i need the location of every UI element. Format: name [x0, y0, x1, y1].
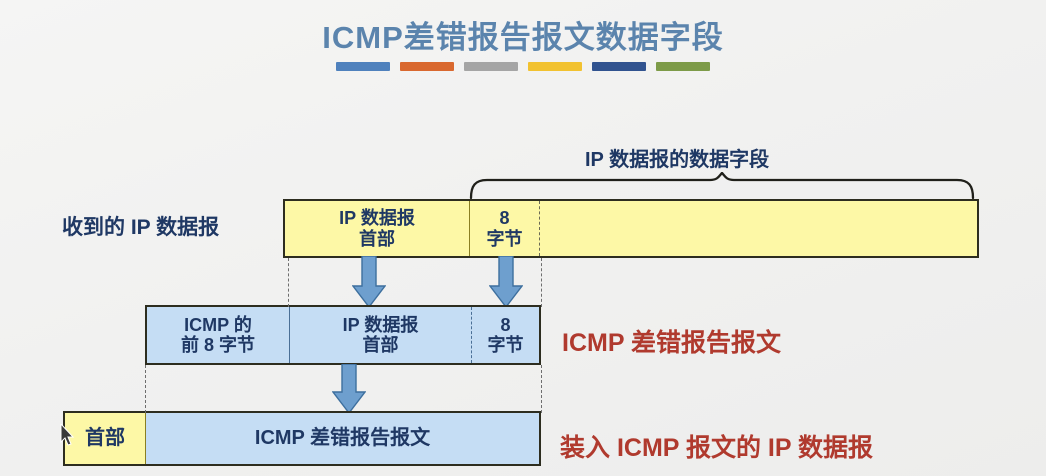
label-ip-data-field: IP 数据报的数据字段: [585, 143, 769, 172]
down-arrow-8-bytes: [489, 256, 523, 308]
cell-icmp-message-row3: ICMP 差错报告报文: [146, 413, 539, 464]
down-arrow-ip-header: [352, 256, 386, 308]
accent-bar-5: [592, 62, 646, 71]
curly-brace-ip-data-field: [465, 172, 985, 200]
cell-payload-row1: [540, 201, 977, 256]
label-encapsulated-ip-datagram: 装入 ICMP 报文的 IP 数据报: [560, 428, 873, 464]
page-title: ICMP差错报告报文数据字段: [0, 12, 1046, 57]
label-icmp-error-message: ICMP 差错报告报文: [562, 323, 781, 359]
down-arrow-icmp-message: [332, 364, 366, 414]
accent-bar-1: [336, 62, 390, 71]
accent-bar-2: [400, 62, 454, 71]
title-accent-bars: [336, 62, 710, 74]
cell-8-bytes-row2: 8 字节: [472, 307, 539, 363]
accent-bar-3: [464, 62, 518, 71]
row-icmp-error-message: ICMP 的 前 8 字节 IP 数据报 首部 8 字节: [145, 305, 541, 365]
guide-line-row2-right: [541, 365, 542, 413]
accent-bar-4: [528, 62, 582, 71]
cell-8-bytes-row1: 8 字节: [470, 201, 540, 256]
label-received-ip-datagram: 收到的 IP 数据报: [62, 211, 219, 241]
guide-line-ip-header-left: [288, 258, 289, 307]
cell-ip-header-row2: IP 数据报 首部: [290, 307, 472, 363]
guide-line-row2-left: [145, 365, 146, 413]
slide-canvas: ICMP差错报告报文数据字段 IP 数据报的数据字段 收到的 IP 数据报 IP…: [0, 0, 1046, 476]
row-received-ip-datagram: IP 数据报 首部 8 字节: [283, 199, 979, 258]
cell-ip-header-row3: 首部: [65, 413, 146, 464]
cell-ip-header-row1: IP 数据报 首部: [285, 201, 470, 256]
guide-line-8-bytes-right: [541, 258, 542, 307]
mouse-cursor: [60, 424, 76, 448]
row-encapsulated-ip-datagram: 首部 ICMP 差错报告报文: [63, 411, 541, 466]
cell-icmp-first-8-bytes: ICMP 的 前 8 字节: [147, 307, 290, 363]
accent-bar-6: [656, 62, 710, 71]
